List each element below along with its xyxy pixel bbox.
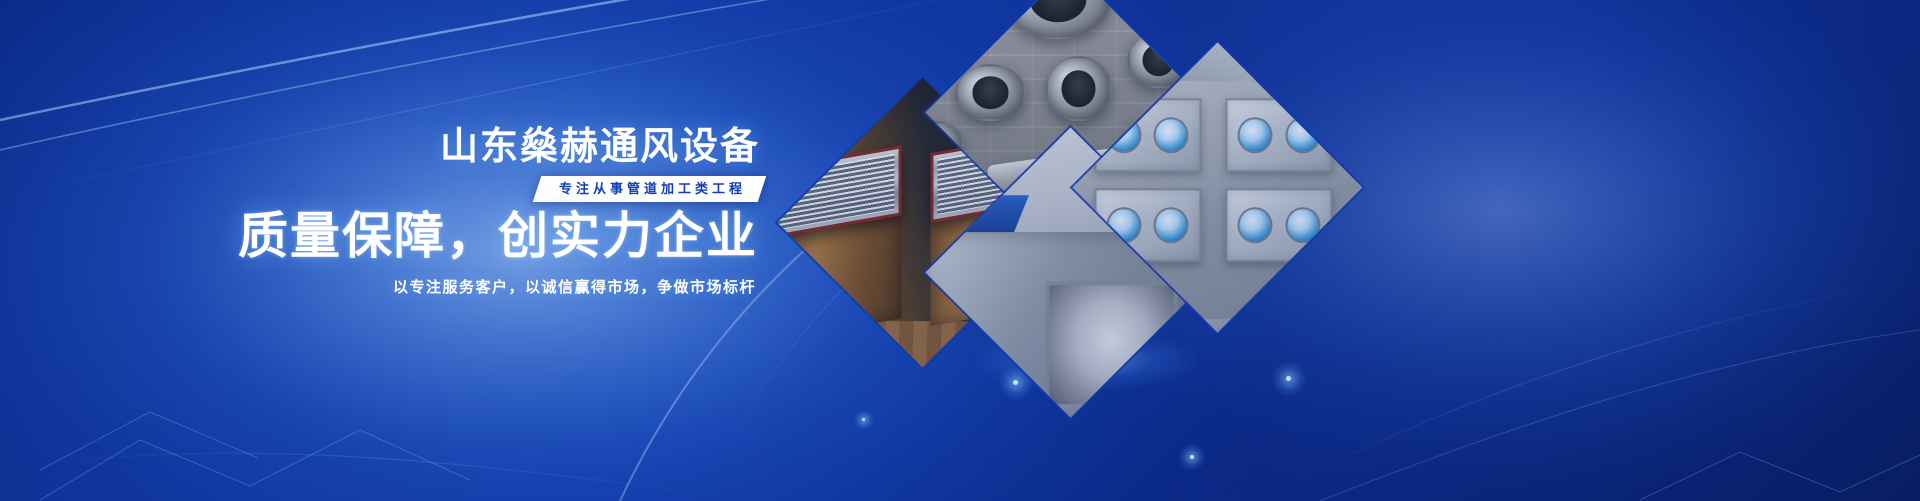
gauge-icon <box>1154 116 1189 152</box>
diamond-photo-collage <box>800 0 1260 430</box>
round-duct <box>1046 55 1112 121</box>
glow-dot-2 <box>1286 376 1291 381</box>
tagline-badge-label: 专注从事管道加工类工程 <box>559 176 746 202</box>
glow-dot-4 <box>1190 455 1194 459</box>
gauge-icon <box>1285 116 1320 152</box>
gauge-icon <box>1238 206 1273 242</box>
hero-banner: 山东燊赫通风设备 专注从事管道加工类工程 质量保障，创实力企业 以专注服务客户，… <box>0 0 1920 501</box>
banner-copy: 山东燊赫通风设备 专注从事管道加工类工程 质量保障，创实力企业 以专注服务客户，… <box>0 0 800 501</box>
gauge-icon <box>1238 116 1273 152</box>
gauge-icon <box>1154 206 1189 242</box>
tagline-badge: 专注从事管道加工类工程 <box>537 176 762 202</box>
gauge-icon <box>1285 206 1320 242</box>
company-title: 山东燊赫通风设备 <box>440 128 760 166</box>
tagline-badge-shape: 专注从事管道加工类工程 <box>533 176 766 202</box>
round-duct <box>956 63 1026 120</box>
fan-opening <box>1046 281 1177 412</box>
fan-base <box>926 404 1216 418</box>
control-panel <box>1226 188 1333 262</box>
vertical-duct <box>1308 43 1363 139</box>
banner-headline: 质量保障，创实力企业 <box>238 208 758 266</box>
banner-subtagline: 以专注服务客户，以诚信赢得市场，争做市场标杆 <box>393 276 756 297</box>
control-panel <box>1226 97 1333 171</box>
